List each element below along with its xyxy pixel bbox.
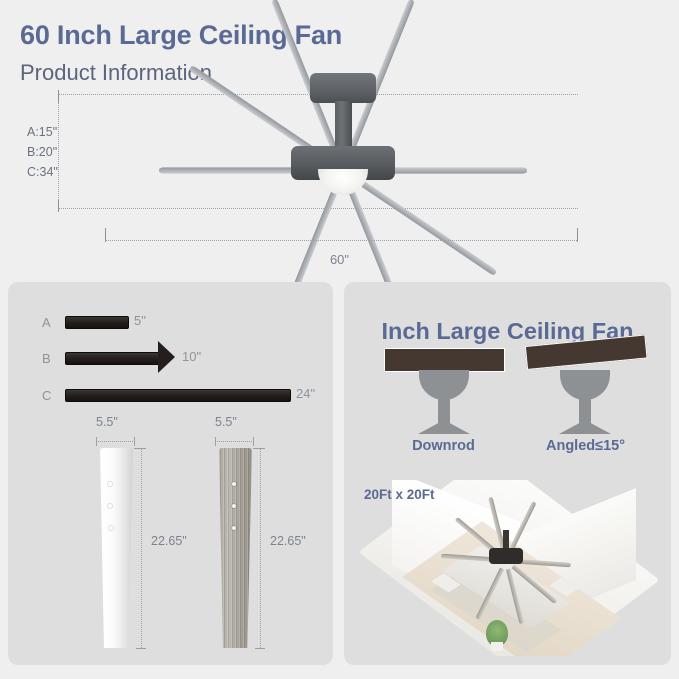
downrod-size-a: 5" — [134, 313, 146, 328]
blade-width-label-1: 5.5" — [96, 415, 118, 429]
span-dimension-line — [105, 240, 577, 241]
ceiling-beam-flat — [384, 348, 505, 372]
blade-screw-hole — [108, 482, 112, 486]
fan-span-label: 60" — [0, 252, 679, 267]
hero-fan-diagram: A:15" B:20" C:34" — [0, 88, 679, 278]
height-option-b: B:20" — [27, 142, 58, 162]
downrod-label-c: C — [42, 388, 51, 403]
blade-length-tick-bottom-1 — [136, 648, 146, 649]
downrod-and-blade-panel: A 5" B 10" C 24" 5.5" 22.65" 5.5" — [8, 282, 333, 665]
blade-width-line-2 — [215, 441, 254, 442]
downrod-bar-c — [65, 389, 291, 402]
span-tick-right — [577, 228, 578, 242]
blade-length-line-2 — [260, 448, 261, 648]
downrod-label-a: A — [42, 315, 51, 330]
room-coverage-label: 20Ft x 20Ft — [364, 487, 435, 502]
room-plant-pot — [491, 642, 503, 651]
page-subtitle: Product Information — [20, 60, 212, 86]
fan-mount-flare-flat — [418, 420, 470, 434]
height-option-a: A:15" — [27, 122, 58, 142]
downrod-bar-a — [65, 316, 129, 329]
fan-blade-sample-white — [100, 448, 133, 648]
blade-screw-hole — [232, 482, 236, 486]
room-ceiling-fan — [446, 510, 566, 602]
fan-mount-cup-flat — [419, 370, 469, 400]
height-dimension-line — [58, 102, 59, 200]
downrod-cone-b — [158, 341, 175, 373]
ceiling-fan-illustration — [108, 90, 578, 235]
height-option-labels: A:15" B:20" C:34" — [27, 122, 58, 182]
room-coverage-illustration — [358, 480, 658, 656]
blade-length-line-1 — [141, 448, 142, 648]
fan-mount-cup-angled — [560, 370, 610, 400]
blade-width-label-2: 5.5" — [215, 415, 237, 429]
downrod-bar-b — [65, 352, 166, 365]
fan-canopy — [310, 73, 376, 103]
blade-length-label-2: 22.65" — [270, 534, 306, 548]
height-tick-bottom — [58, 200, 59, 212]
mounting-options-panel: Inch Large Ceiling Fan Downrod Angled≤15… — [344, 282, 671, 665]
blade-width-line-1 — [96, 441, 135, 442]
height-option-c: C:34" — [27, 162, 58, 182]
fan-mount-flare-angled — [559, 420, 611, 434]
room-fan-blade — [515, 559, 571, 567]
room-fan-downrod — [503, 530, 509, 550]
downrod-size-c: 24" — [296, 386, 315, 401]
mount-caption-angled: Angled≤15° — [526, 438, 645, 454]
blade-width-tick-right-2 — [253, 437, 254, 446]
blade-length-tick-top-1 — [134, 448, 146, 449]
blade-screw-hole — [108, 504, 112, 508]
product-infographic: 60 Inch Large Ceiling Fan Product Inform… — [0, 0, 679, 679]
room-fan-blade — [511, 565, 557, 604]
blade-screw-hole — [109, 526, 113, 530]
blade-width-tick-right-1 — [134, 437, 135, 446]
mount-caption-downrod: Downrod — [384, 438, 503, 454]
blade-length-label-1: 22.65" — [151, 534, 187, 548]
blade-screw-hole — [232, 504, 236, 508]
fan-light-kit — [318, 169, 368, 195]
blade-screw-hole — [232, 526, 236, 530]
room-fan-hub — [489, 548, 523, 564]
blade-length-tick-top-2 — [253, 448, 265, 449]
blade-length-tick-bottom-2 — [255, 648, 265, 649]
height-tick-top — [58, 90, 59, 102]
downrod-size-b: 10" — [182, 349, 201, 364]
fan-blade-sample-wood — [219, 448, 252, 648]
downrod-label-b: B — [42, 351, 51, 366]
